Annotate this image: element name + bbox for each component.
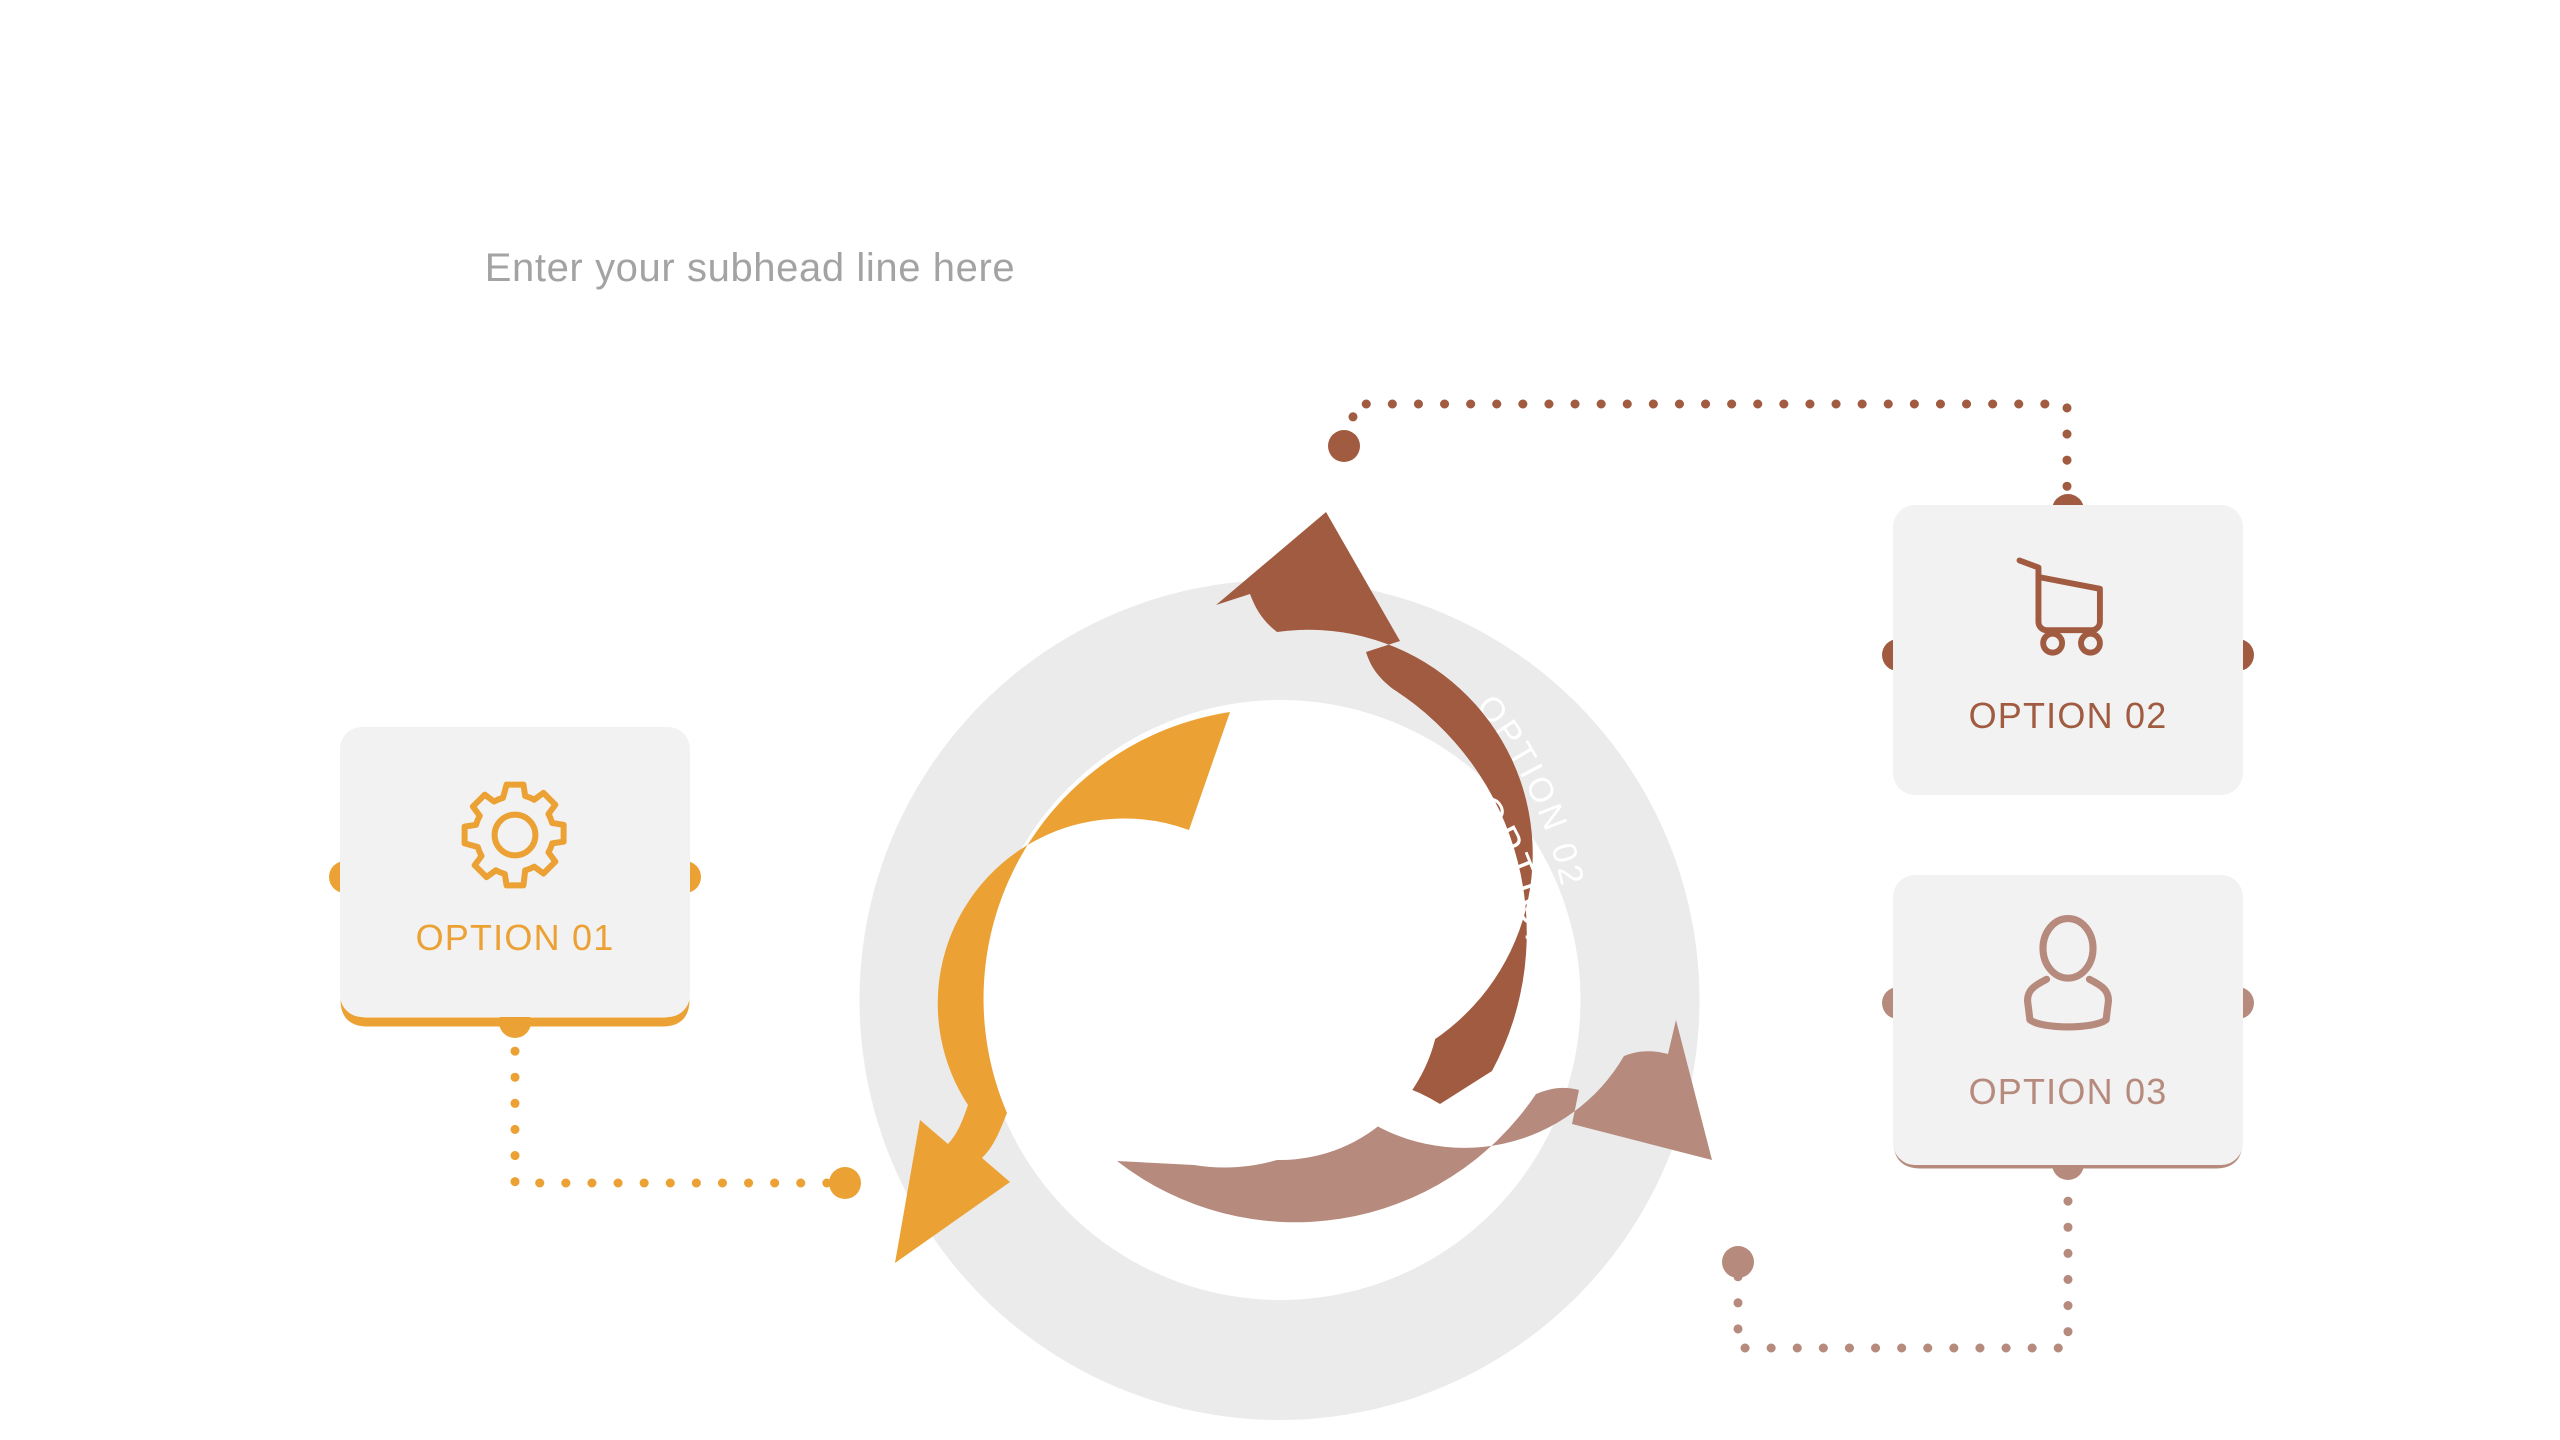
card-option-02[interactable]: OPTION 02	[1893, 505, 2243, 795]
card-label-option-02: OPTION 02	[1893, 695, 2243, 737]
infographic-canvas: Enter your subhead line here OPTION 02 O…	[0, 0, 2560, 1440]
gear-icon	[340, 775, 690, 895]
shopping-cart-icon	[1893, 543, 2243, 663]
card-option-03[interactable]: OPTION 03	[1893, 875, 2243, 1165]
user-icon	[1893, 915, 2243, 1040]
card-option-01[interactable]: OPTION 01	[340, 727, 690, 1017]
card-label-option-03: OPTION 03	[1893, 1071, 2243, 1113]
card-label-option-01: OPTION 01	[340, 917, 690, 959]
